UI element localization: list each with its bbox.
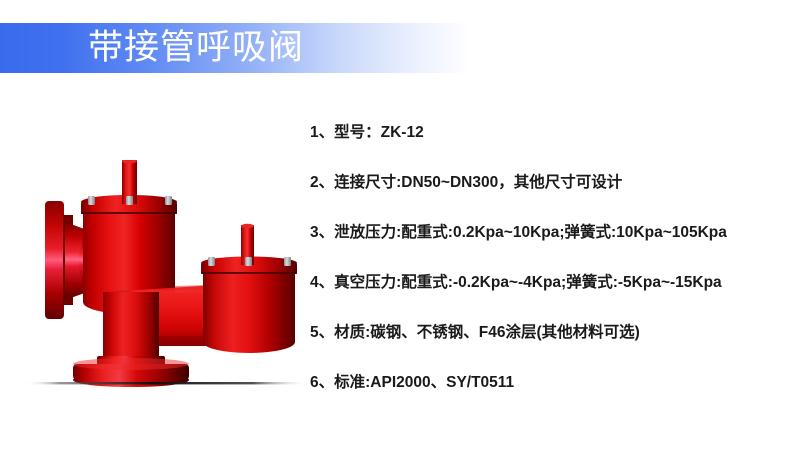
- spec-line-4: 4、真空压力:配重式:-0.2Kpa~-4Kpa;弹簧式:-5Kpa~-15Kp…: [310, 269, 790, 319]
- secondary-cylinder: [203, 270, 295, 353]
- spec-line-5: 5、材质:碳钢、不锈钢、F46涂层(其他材料可选): [310, 319, 790, 369]
- spec-line-1: 1、型号：ZK-12: [310, 119, 790, 169]
- spec-line-3: 3、泄放压力:配重式:0.2Kpa~10Kpa;弹簧式:10Kpa~105Kpa: [310, 219, 790, 269]
- ground-line: [25, 382, 310, 384]
- product-image: [25, 160, 310, 395]
- spec-line-2: 2、连接尺寸:DN50~DN300，其他尺寸可设计: [310, 169, 790, 219]
- spec-list: 1、型号：ZK-12 2、连接尺寸:DN50~DN300，其他尺寸可设计 3、泄…: [310, 119, 790, 419]
- page-title: 带接管呼吸阀: [88, 23, 304, 73]
- spec-line-6: 6、标准:API2000、SY/T0511: [310, 369, 790, 419]
